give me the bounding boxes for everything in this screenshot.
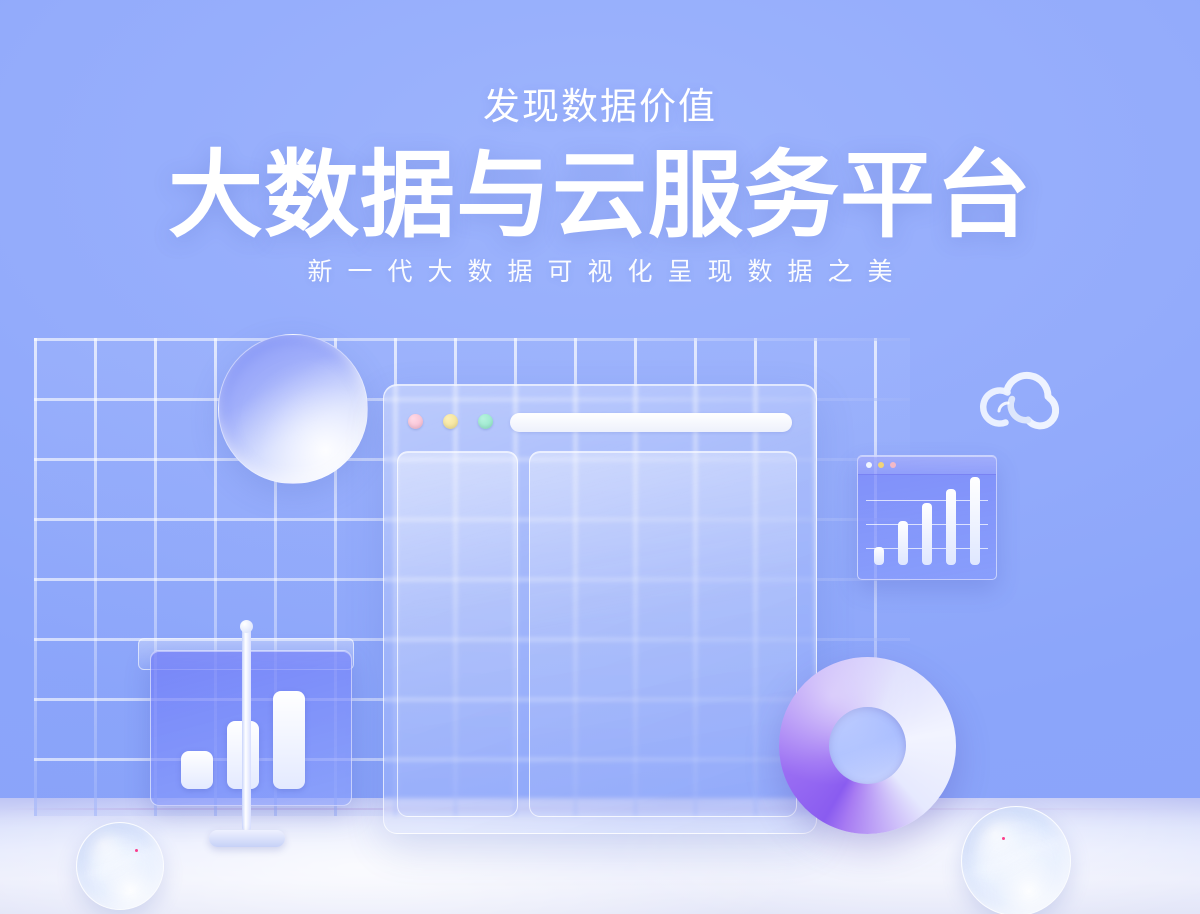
mini-dot-pink-icon bbox=[890, 462, 896, 468]
sphere-spark-icon bbox=[1002, 837, 1005, 840]
grid-line-horizontal bbox=[34, 338, 910, 341]
glass-sphere-left bbox=[76, 822, 164, 910]
eyebrow-text: 发现数据价值 bbox=[0, 88, 1200, 125]
mini-chart-card[interactable] bbox=[857, 455, 997, 580]
mini-dot-white-icon bbox=[866, 462, 872, 468]
sphere-spark-icon bbox=[135, 849, 138, 852]
tagline-text: 新一代大数据可视化呈现数据之美 bbox=[0, 260, 1200, 285]
mini-chart-bar bbox=[874, 547, 884, 565]
page-title: 大数据与云服务平台 bbox=[0, 147, 1200, 246]
hero-banner: 发现数据价值 大数据与云服务平台 新一代大数据可视化呈现数据之美 bbox=[0, 0, 1200, 914]
mini-dot-yellow-icon bbox=[878, 462, 884, 468]
grid-line-vertical bbox=[34, 338, 37, 816]
cloud-icon bbox=[976, 366, 1066, 432]
donut-ring-shape bbox=[779, 657, 956, 834]
mini-card-titlebar bbox=[858, 456, 996, 475]
mini-chart-bar bbox=[946, 489, 956, 565]
hero-text-block: 发现数据价值 大数据与云服务平台 新一代大数据可视化呈现数据之美 bbox=[0, 88, 1200, 285]
content-panel[interactable] bbox=[529, 451, 797, 817]
glass-disc-shape bbox=[218, 334, 368, 484]
browser-window-mockup[interactable] bbox=[383, 384, 817, 834]
grid-line-vertical bbox=[94, 338, 97, 816]
monitor-chart-bar bbox=[273, 691, 305, 789]
mini-chart-bar bbox=[898, 521, 908, 565]
maximize-dot-icon[interactable] bbox=[478, 414, 493, 429]
sidebar-panel[interactable] bbox=[397, 451, 518, 817]
monitor-base bbox=[209, 830, 285, 847]
traffic-lights bbox=[408, 414, 493, 429]
mini-card-dots bbox=[866, 462, 896, 468]
mini-chart-bar bbox=[922, 503, 932, 565]
monitor-pole bbox=[242, 624, 251, 832]
glass-sphere-right bbox=[961, 806, 1071, 914]
mini-chart-bar bbox=[970, 477, 980, 565]
minimize-dot-icon[interactable] bbox=[443, 414, 458, 429]
monitor-pole-cap-icon bbox=[240, 620, 253, 633]
monitor-screen bbox=[150, 650, 352, 806]
close-dot-icon[interactable] bbox=[408, 414, 423, 429]
monitor-chart-bar bbox=[181, 751, 213, 789]
address-bar-input[interactable] bbox=[510, 413, 792, 432]
